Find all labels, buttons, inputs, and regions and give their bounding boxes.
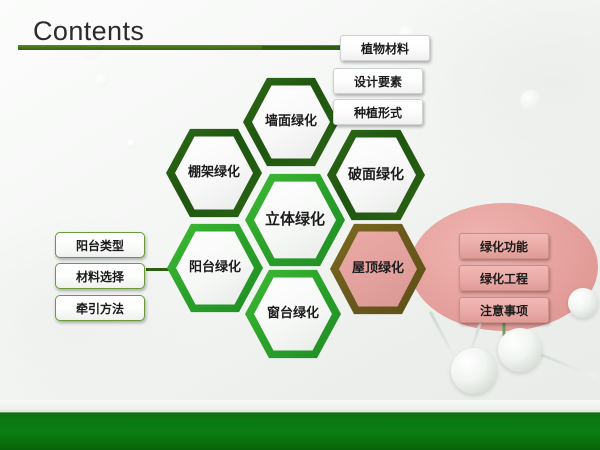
callout-precautions[interactable]: 注意事项 xyxy=(459,297,549,323)
molecule-atom xyxy=(451,348,497,394)
callout-greening-project[interactable]: 绿化工程 xyxy=(459,265,549,291)
hexagon-wall-greening-label: 墙面绿化 xyxy=(262,114,320,129)
molecule-rod xyxy=(429,311,458,362)
hexagon-vertical-greening-center-face: 立体绿化 xyxy=(254,180,336,260)
callout-material-selection[interactable]: 材料选择 xyxy=(55,263,145,289)
callout-greening-project-label: 绿化工程 xyxy=(480,270,528,287)
hexagon-slope-greening-label: 破面绿化 xyxy=(345,167,407,184)
hexagon-balcony-greening[interactable]: 阳台绿化 xyxy=(167,222,263,314)
callout-material-selection-label: 材料选择 xyxy=(76,268,124,285)
hexagon-trellis-greening-face: 棚架绿化 xyxy=(175,135,253,211)
hexagon-wall-greening-face: 墙面绿化 xyxy=(252,84,330,160)
callout-design-elements-label: 设计要素 xyxy=(354,73,402,90)
background-bubble xyxy=(127,139,136,148)
callout-precautions-label: 注意事项 xyxy=(480,302,528,319)
callout-planting-form-label: 种植形式 xyxy=(354,104,402,121)
hexagon-roof-greening-face: 屋顶绿化 xyxy=(339,230,417,308)
hexagon-trellis-greening[interactable]: 棚架绿化 xyxy=(166,127,262,219)
callout-planting-form[interactable]: 种植形式 xyxy=(333,99,423,125)
hexagon-vertical-greening-center[interactable]: 立体绿化 xyxy=(245,172,345,268)
background-bubble xyxy=(520,90,542,112)
page-title: Contents xyxy=(33,16,144,47)
hexagon-slope-greening-face: 破面绿化 xyxy=(336,136,416,214)
footer-bar xyxy=(0,412,600,450)
connector-line-top xyxy=(262,46,350,50)
callout-balcony-type[interactable]: 阳台类型 xyxy=(55,232,145,258)
callout-greening-function-label: 绿化功能 xyxy=(480,238,528,255)
callout-traction-method-label: 牵引方法 xyxy=(76,300,124,317)
slide-canvas: Contents 墙面绿化 棚架绿化 破面绿化 立体绿化 阳台绿化 xyxy=(0,0,600,450)
hexagon-balcony-greening-label: 阳台绿化 xyxy=(186,260,244,275)
hexagon-trellis-greening-label: 棚架绿化 xyxy=(185,165,243,180)
hexagon-windowsill-greening-face: 窗台绿化 xyxy=(254,276,332,352)
callout-traction-method[interactable]: 牵引方法 xyxy=(55,295,145,321)
molecule-atom xyxy=(568,288,598,318)
hexagon-wall-greening[interactable]: 墙面绿化 xyxy=(243,76,339,168)
hexagon-windowsill-greening[interactable]: 窗台绿化 xyxy=(245,268,341,360)
callout-greening-function[interactable]: 绿化功能 xyxy=(459,233,549,259)
callout-plant-material[interactable]: 植物材料 xyxy=(340,35,430,61)
background-bubble xyxy=(95,73,109,87)
hexagon-balcony-greening-face: 阳台绿化 xyxy=(176,230,254,306)
hexagon-windowsill-greening-label: 窗台绿化 xyxy=(264,306,322,321)
hexagon-roof-greening[interactable]: 屋顶绿化 xyxy=(330,222,426,316)
hexagon-vertical-greening-center-label: 立体绿化 xyxy=(256,211,334,229)
molecule-atom xyxy=(498,328,542,372)
callout-balcony-type-label: 阳台类型 xyxy=(76,237,124,254)
callout-plant-material-label: 植物材料 xyxy=(361,40,409,57)
hexagon-slope-greening[interactable]: 破面绿化 xyxy=(327,128,425,222)
callout-design-elements[interactable]: 设计要素 xyxy=(333,68,423,94)
hexagon-roof-greening-label: 屋顶绿化 xyxy=(349,261,407,276)
